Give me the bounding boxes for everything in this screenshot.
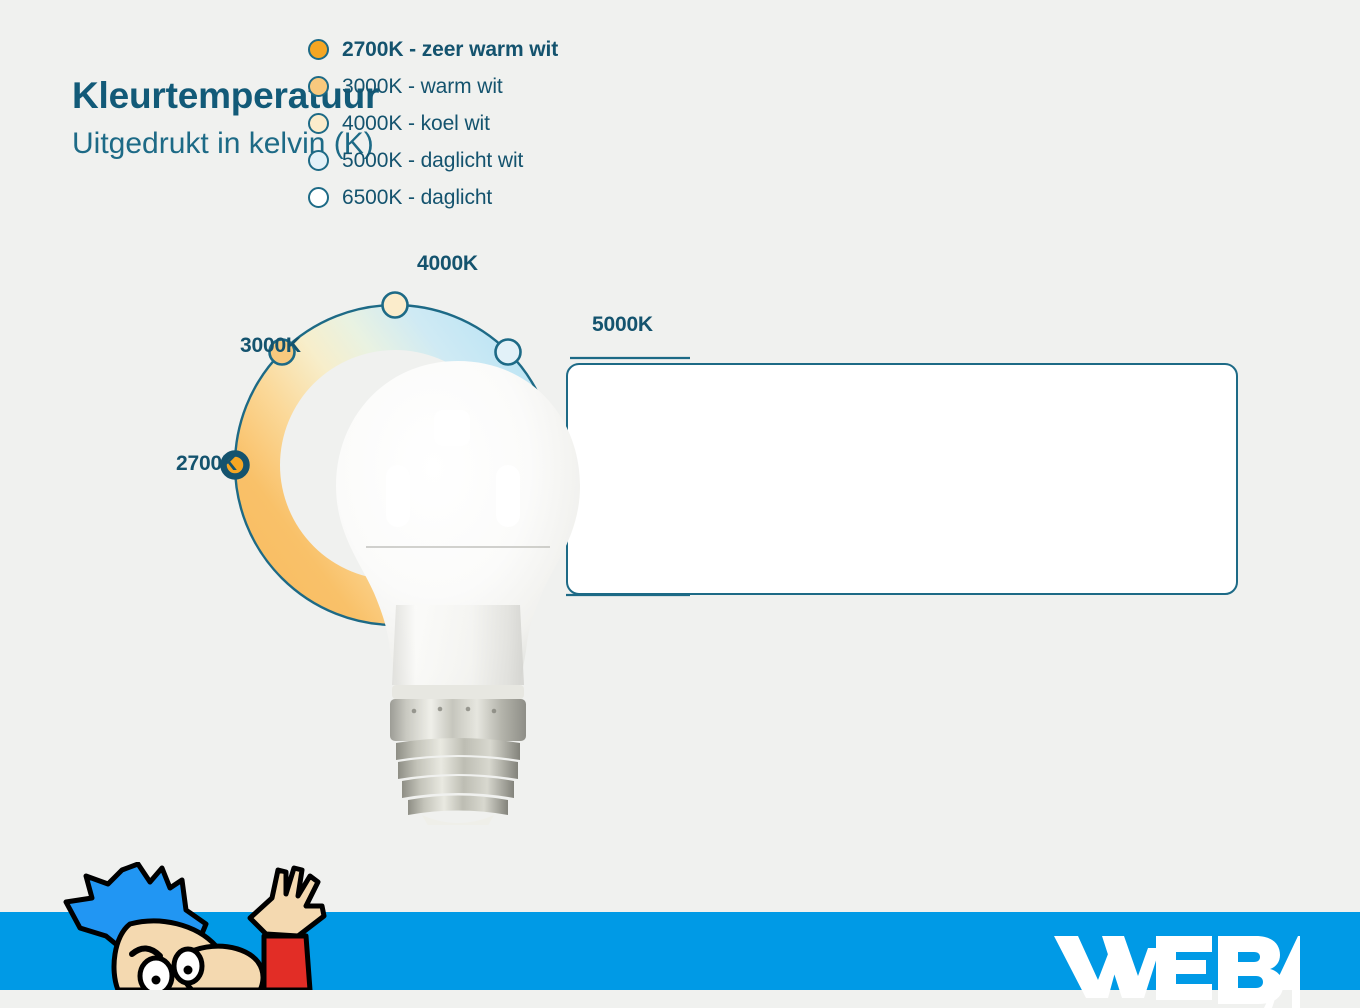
led-bulb-illustration (318, 355, 598, 825)
legend-label-4000k: 4000K - koel wit (342, 112, 490, 136)
legend-label-6500k: 6500K - daglicht (342, 186, 492, 210)
bulb-contact-tip (422, 815, 494, 825)
ring-label-3000k: 3000K (240, 334, 301, 358)
mascot-sleeve (264, 936, 310, 990)
legend-swatch-5000k (308, 150, 329, 171)
legend-swatch-2700k (308, 39, 329, 60)
ring-label-4000k: 4000K (417, 252, 478, 276)
bulb-collar (392, 685, 524, 699)
legend-item-5000k[interactable]: 5000K - daglicht wit (308, 142, 558, 179)
node-4000k[interactable] (383, 293, 408, 318)
legend-label-3000k: 3000K - warm wit (342, 75, 503, 99)
color-temperature-diagram: 2700K 3000K 4000K 5000K 6500K (0, 0, 1360, 912)
legend-label-5000k: 5000K - daglicht wit (342, 149, 523, 173)
bulb-highlight-left (386, 465, 410, 527)
bulb-screw-threads (396, 738, 520, 815)
mascot-eye-left (140, 958, 172, 990)
bulb-highlight-right (496, 465, 520, 527)
legend-item-6500k[interactable]: 6500K - daglicht (308, 179, 558, 216)
mascot-pupil-left (152, 976, 161, 985)
weba-mascot-icon (10, 862, 340, 990)
legend-swatch-3000k (308, 76, 329, 97)
weba-wordmark (1054, 936, 1300, 1008)
mascot-hand (250, 868, 324, 936)
bulb-base-smooth (390, 699, 526, 741)
weba-logo (1052, 928, 1300, 1008)
bulb-neck-shading (392, 605, 524, 685)
legend-panel (566, 363, 1238, 595)
legend-item-4000k[interactable]: 4000K - koel wit (308, 105, 558, 142)
bulb-highlight-top (434, 410, 470, 446)
ring-label-2700k: 2700K (176, 452, 237, 476)
legend-item-2700k[interactable]: 2700K - zeer warm wit (308, 31, 558, 68)
legend-list: 2700K - zeer warm wit 3000K - warm wit 4… (308, 31, 558, 216)
legend-swatch-4000k (308, 113, 329, 134)
legend-label-2700k: 2700K - zeer warm wit (342, 38, 558, 62)
legend-swatch-6500k (308, 187, 329, 208)
legend-item-3000k[interactable]: 3000K - warm wit (308, 68, 558, 105)
ring-label-5000k: 5000K (592, 313, 653, 337)
mascot-pupil-right (184, 966, 193, 975)
